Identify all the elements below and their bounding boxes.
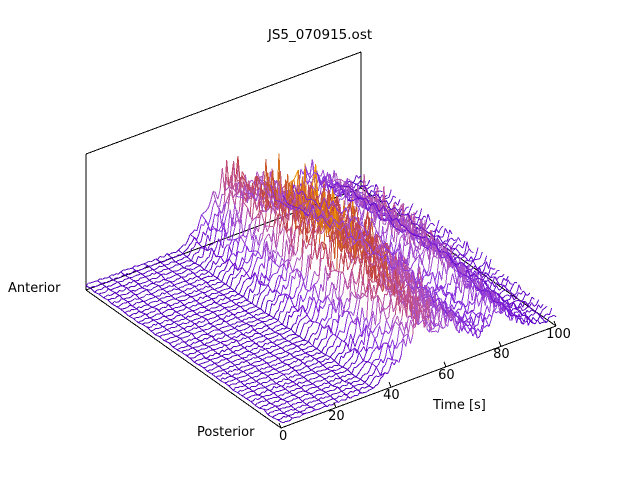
axis-label-time: Time [s] <box>433 398 486 413</box>
x-tick-label: 100 <box>546 327 571 342</box>
x-tick-label: 80 <box>493 347 510 362</box>
axis-ticks <box>279 321 556 428</box>
x-tick-label: 0 <box>279 429 287 444</box>
figure-canvas: JS5_070915.ost Anterior Posterior Time [… <box>0 0 640 480</box>
plot-title: JS5_070915.ost <box>0 27 640 43</box>
surface-mesh <box>86 153 556 422</box>
axis-frame <box>86 52 556 428</box>
axis-label-anterior: Anterior <box>8 281 60 296</box>
x-tick-label: 40 <box>383 388 400 403</box>
mesh-plot-svg <box>0 0 640 480</box>
x-tick-label: 60 <box>438 368 455 383</box>
x-tick-label: 20 <box>328 409 345 424</box>
axis-label-posterior: Posterior <box>197 425 254 440</box>
